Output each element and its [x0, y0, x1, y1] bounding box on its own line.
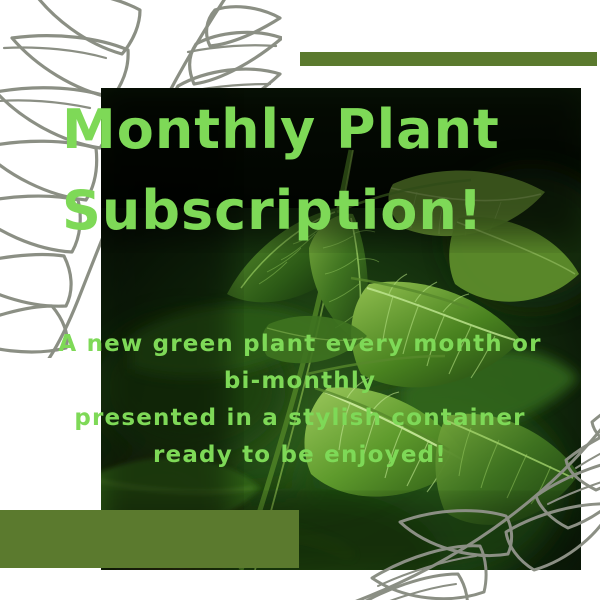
- poster-canvas: Monthly Plant Subscription! A new green …: [0, 0, 600, 600]
- leaves-photo-graphic: [101, 88, 581, 570]
- olive-accent-block-bottom: [0, 510, 299, 568]
- olive-accent-bar-top: [300, 52, 597, 66]
- leaves-photo: [101, 88, 581, 570]
